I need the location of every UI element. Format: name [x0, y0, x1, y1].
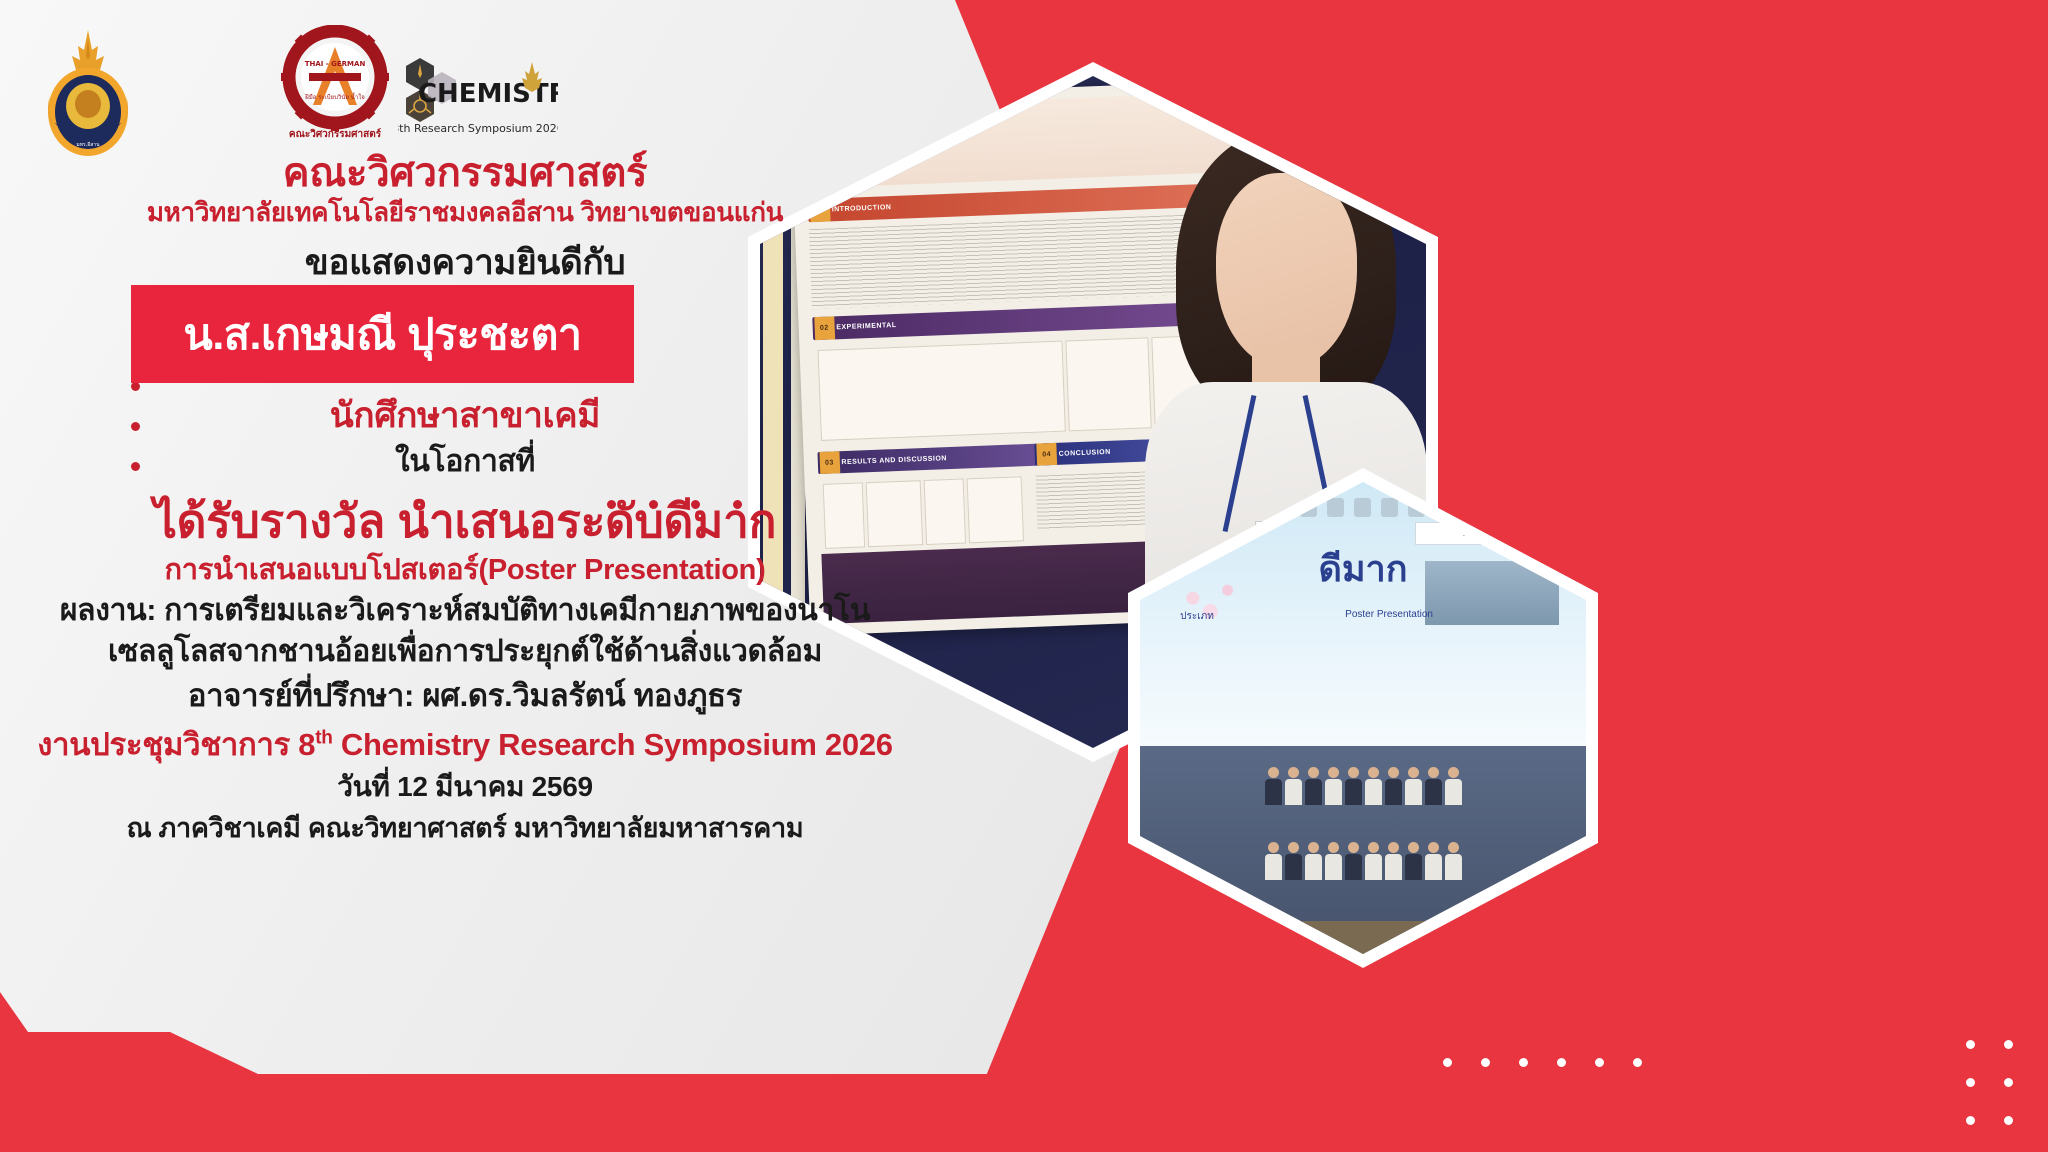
poster-figure: [967, 477, 1025, 544]
person: [1325, 842, 1342, 880]
university-subheading: มหาวิทยาลัยเทคโนโลยีราชมงคลอีสาน วิทยาเข…: [0, 192, 930, 233]
person: [1345, 842, 1362, 880]
event-date: วันที่ 12 มีนาคม 2569: [0, 765, 930, 809]
person: [1285, 842, 1302, 880]
person: [1405, 767, 1422, 805]
awardee-major: นักศึกษาสาขาเคมี: [0, 388, 930, 443]
congratulation-poster: มทร.อีสาน THAI - GERMAN: [0, 0, 2048, 1152]
occasion-text: ในโอกาสที่: [0, 438, 930, 485]
dot-decoration-white-bottom: [1443, 1058, 1671, 1067]
secondary-photo: รางวัล ดีมาก ประเภท Poster Presentation: [1140, 482, 1586, 954]
person: [1265, 842, 1282, 880]
person: [1305, 842, 1322, 880]
person: [1365, 767, 1382, 805]
group-photo-floor: [1140, 921, 1586, 954]
poster-figure: [924, 479, 966, 545]
slide-logo-icon: [1327, 498, 1344, 517]
person: [1365, 842, 1382, 880]
event-venue: ณ ภาควิชาเคมี คณะวิทยาศาสตร์ มหาวิทยาลัย…: [0, 806, 930, 849]
person: [1345, 767, 1362, 805]
person: [1445, 767, 1462, 805]
student-face: [1216, 173, 1357, 369]
secondary-photo-hexagon-frame: รางวัล ดีมาก ประเภท Poster Presentation: [1128, 468, 1598, 968]
person: [1305, 767, 1322, 805]
slide-category-label: ประเภท: [1180, 609, 1214, 624]
slide-logo-icon: [1354, 498, 1371, 517]
slide-logo-icon: [1300, 498, 1317, 517]
presentation-type: การนำเสนอแบบโปสเตอร์(Poster Presentation…: [0, 546, 930, 592]
work-title-line1: ผลงาน: การเตรียมและวิเคราะห์สมบัติทางเคม…: [0, 587, 930, 634]
slide-logo-icon: [1381, 498, 1398, 517]
group-photo-audience: [1140, 746, 1586, 954]
advisor-line: อาจารย์ที่ปรึกษา: ผศ.ดร.วิมลรัตน์ ทองภูธ…: [0, 670, 930, 720]
dot-decoration-white-corner: [1966, 1040, 2042, 1152]
slide-screen: รางวัล ดีมาก ประเภท Poster Presentation: [1140, 482, 1586, 746]
congratulation-text: ขอแสดงความยินดีกับ: [0, 235, 930, 290]
slide-logo-icon: [1408, 498, 1425, 517]
symposium-line: งานประชุมวิชาการ 8th Chemistry Research …: [0, 719, 930, 769]
work-title-line2: เซลลูโลสจากชานอ้อยเพื่อการประยุกต์ใช้ด้า…: [0, 628, 930, 675]
award-announcement-slide-photo: รางวัล ดีมาก ประเภท Poster Presentation: [1140, 482, 1586, 954]
symposium-suffix: Chemistry Research Symposium 2026: [333, 727, 893, 762]
symposium-prefix: งานประชุมวิชาการ 8: [37, 727, 315, 762]
person: [1405, 842, 1422, 880]
person: [1285, 767, 1302, 805]
person: [1425, 767, 1442, 805]
person: [1265, 767, 1282, 805]
slide-award-level: ดีมาก: [1140, 540, 1586, 597]
person: [1445, 842, 1462, 880]
poster-section-number: 04: [1036, 443, 1057, 466]
group-photo-back-row: [1140, 767, 1586, 805]
text-content-column: คณะวิศวกรรมศาสตร์ มหาวิทยาลัยเทคโนโลยีรา…: [0, 0, 930, 1152]
person: [1325, 767, 1342, 805]
awardee-name: น.ส.เกษมณี ปุระชะตา: [183, 300, 581, 368]
symposium-ordinal-suffix: th: [315, 728, 332, 749]
slide-presentation-type-label: Poster Presentation: [1345, 609, 1433, 620]
person: [1385, 842, 1402, 880]
poster-section-label: CONCLUSION: [1058, 449, 1110, 458]
group-photo-front-row: [1140, 842, 1586, 880]
awardee-name-banner: น.ส.เกษมณี ปุระชะตา: [131, 285, 634, 383]
person: [1385, 767, 1402, 805]
slide-logo-row: [1176, 495, 1551, 519]
person: [1425, 842, 1442, 880]
